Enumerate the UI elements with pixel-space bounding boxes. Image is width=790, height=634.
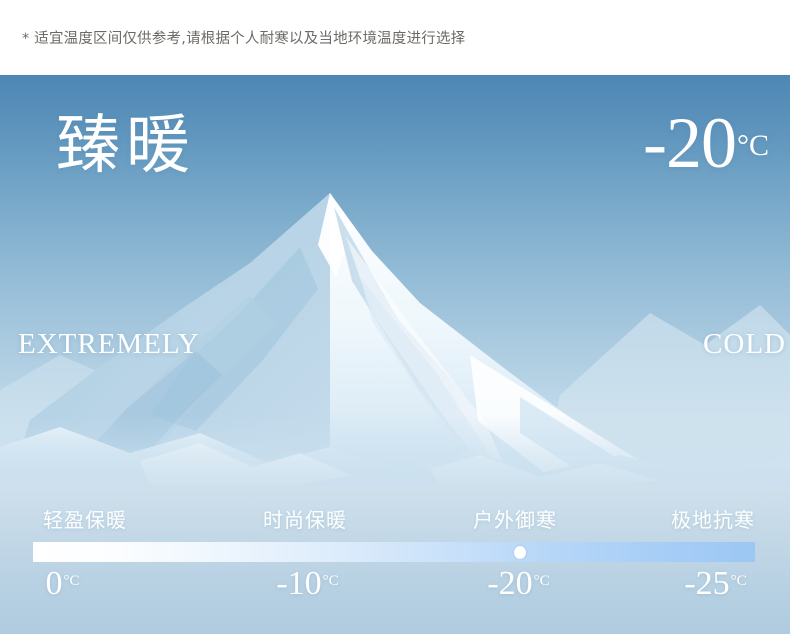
hero-banner: 臻暖 -20°C EXTREMELY COLD — [0, 75, 790, 485]
temperature-tick-4: -25°C — [684, 567, 745, 601]
hero-temperature-value: -20 — [643, 103, 736, 183]
temperature-tick-1-value: 0 — [45, 565, 62, 602]
warmth-level-label-1: 轻盈保暖 — [43, 504, 127, 533]
temperature-tick-3: -20°C — [487, 567, 548, 601]
disclaimer-text: * 适宜温度区间仅供参考,请根据个人耐寒以及当地环境温度进行选择 — [0, 27, 465, 48]
temperature-tick-3-unit: °C — [534, 573, 550, 589]
temperature-tick-labels: 0°C -10°C -20°C -25°C — [0, 567, 790, 622]
warmth-level-label-2: 时尚保暖 — [263, 504, 347, 533]
product-temperature-scale-page: * 适宜温度区间仅供参考,请根据个人耐寒以及当地环境温度进行选择 — [0, 0, 790, 634]
temperature-tick-2-unit: °C — [323, 573, 339, 589]
hero-title: 臻暖 — [56, 114, 196, 178]
temperature-slider-knob[interactable] — [514, 546, 526, 559]
temperature-slider-track[interactable] — [33, 542, 755, 562]
temperature-tick-1-unit: °C — [63, 573, 79, 589]
hero-temperature: -20°C — [643, 107, 768, 179]
hero-temperature-unit: °C — [737, 129, 769, 162]
temperature-tick-4-value: -25 — [684, 565, 729, 602]
temperature-tick-1: 0°C — [45, 567, 78, 601]
temperature-tick-4-unit: °C — [731, 573, 747, 589]
temperature-tick-2: -10°C — [276, 567, 337, 601]
temperature-tick-2-value: -10 — [276, 565, 321, 602]
disclaimer-bar: * 适宜温度区间仅供参考,请根据个人耐寒以及当地环境温度进行选择 — [0, 0, 790, 75]
temperature-tick-3-value: -20 — [487, 565, 532, 602]
warmth-level-label-4: 极地抗寒 — [671, 504, 755, 533]
warmth-level-label-3: 户外御寒 — [473, 504, 557, 533]
hero-subtitle-right: COLD — [703, 328, 786, 361]
warmth-scale-section: 轻盈保暖 时尚保暖 户外御寒 极地抗寒 0°C -10°C -20°C -25°… — [0, 485, 790, 634]
warmth-level-labels: 轻盈保暖 时尚保暖 户外御寒 极地抗寒 — [0, 485, 790, 530]
hero-subtitle-left: EXTREMELY — [18, 328, 200, 361]
